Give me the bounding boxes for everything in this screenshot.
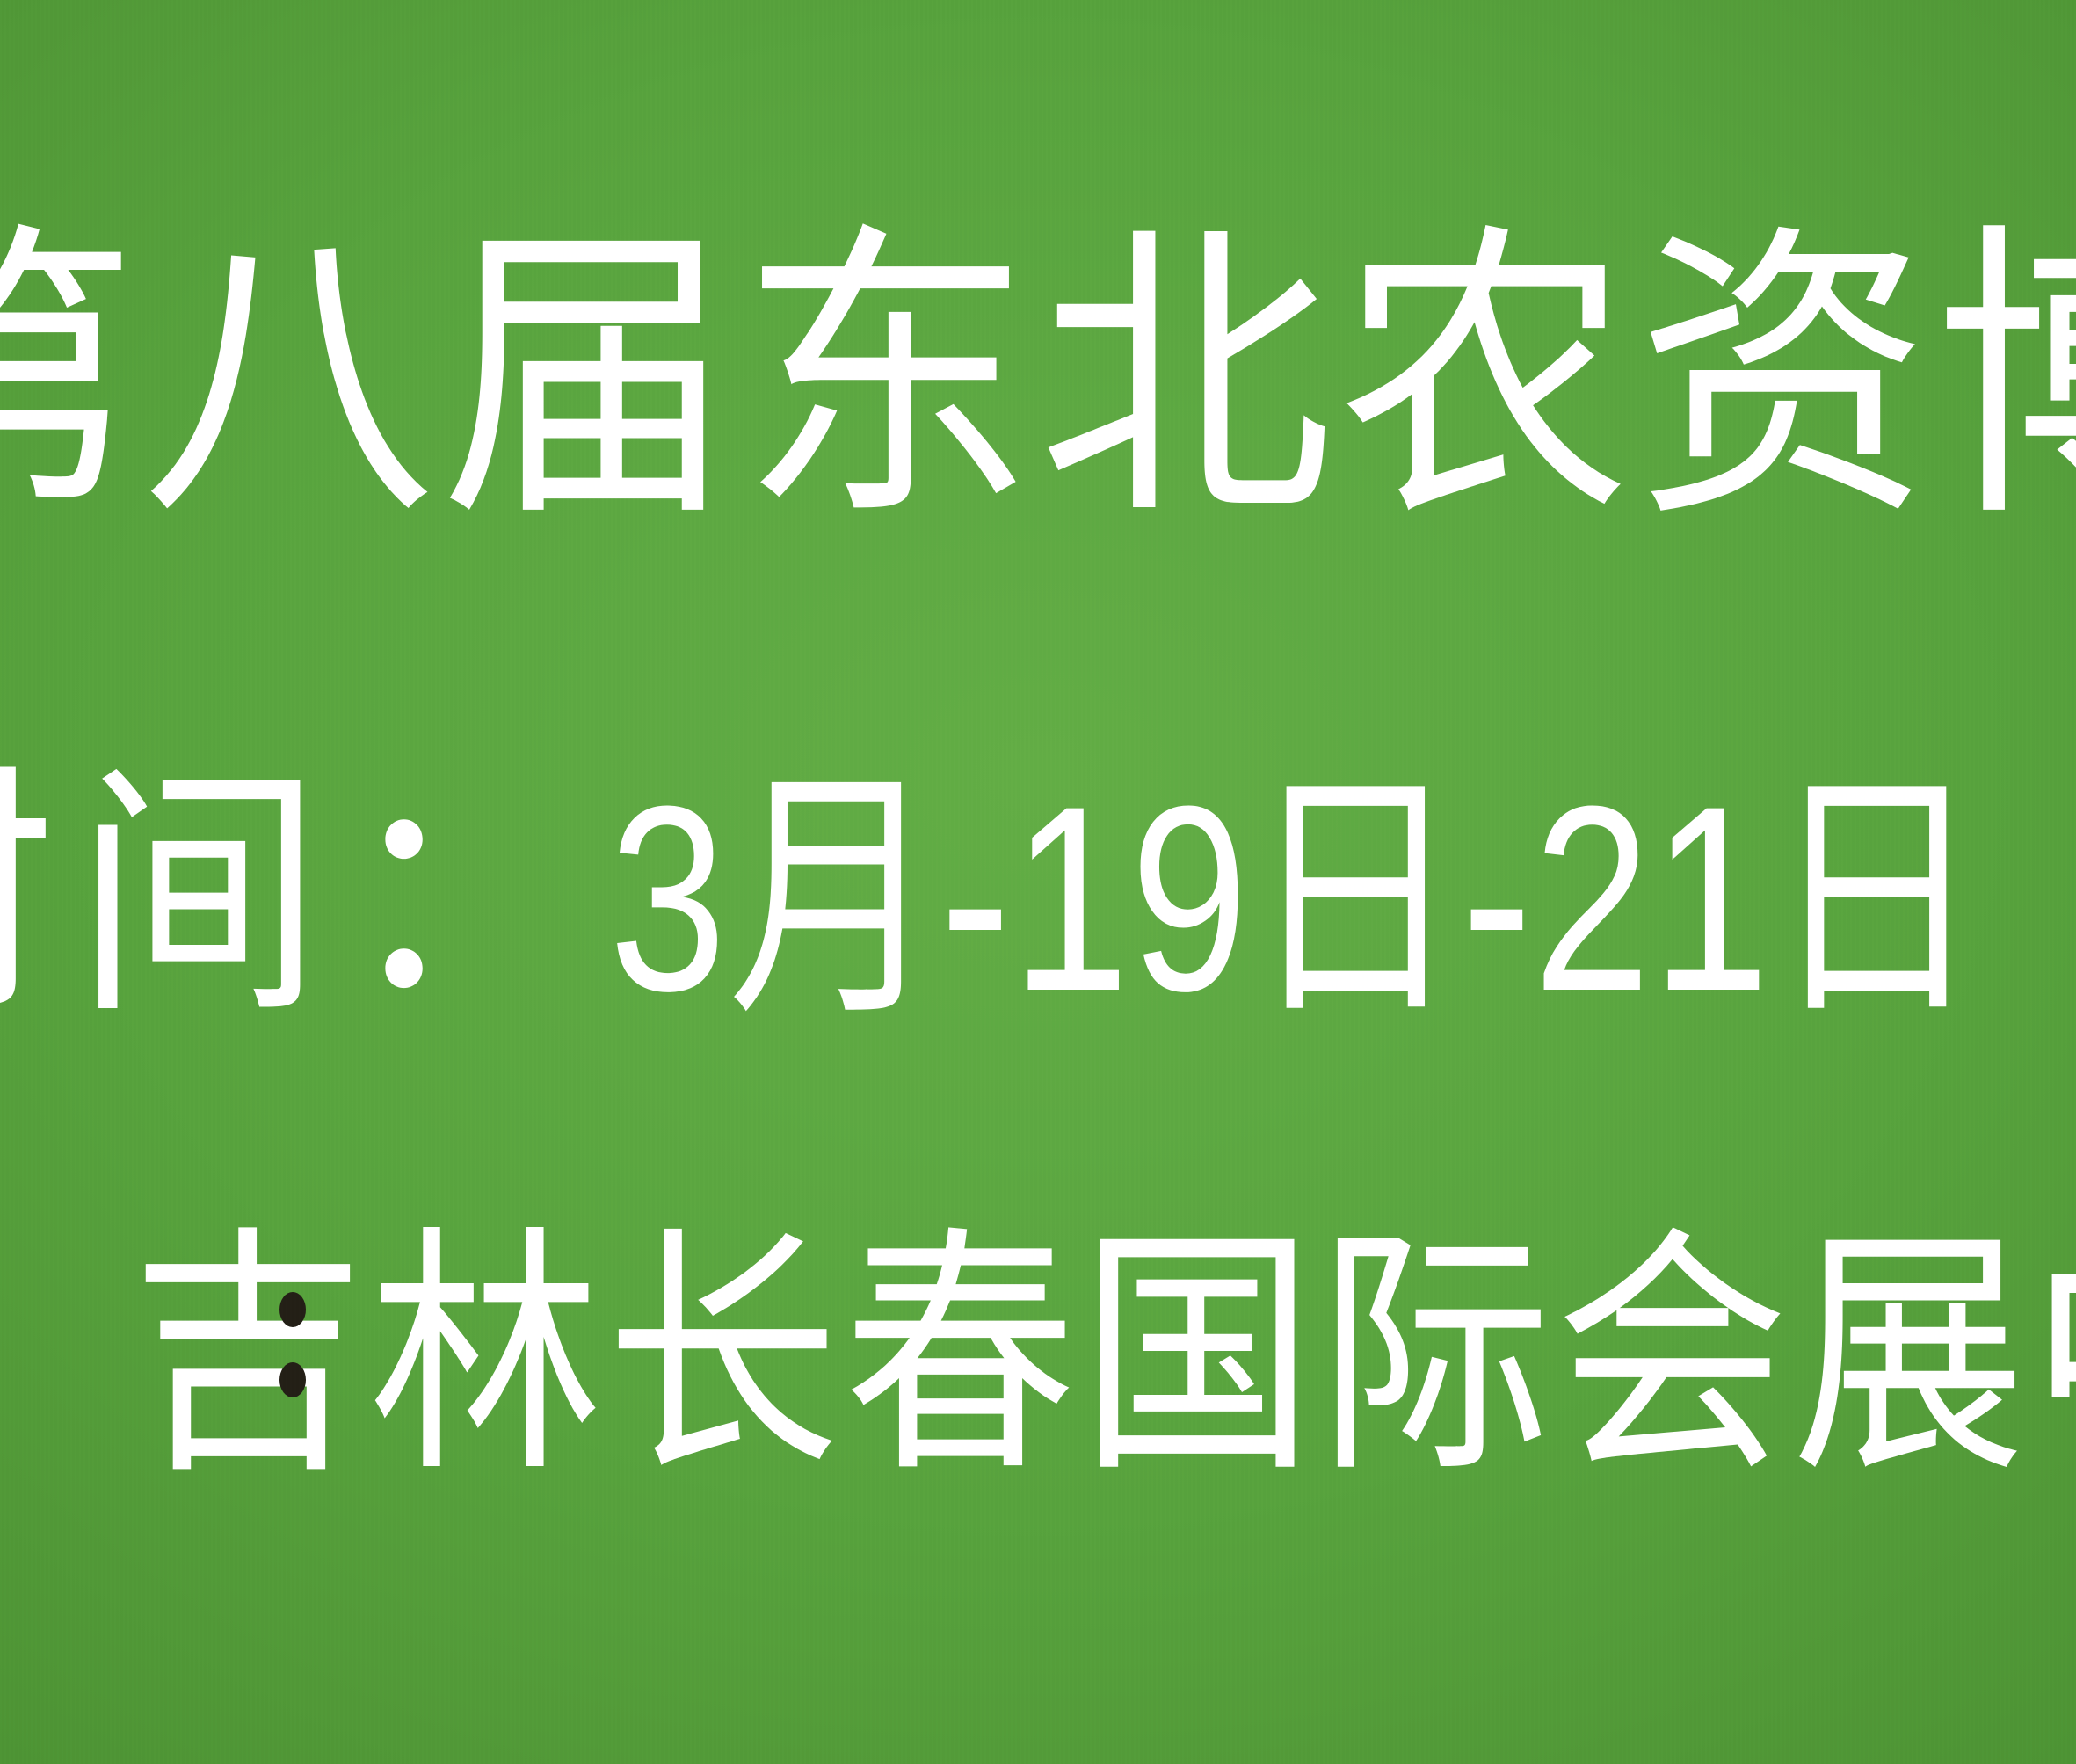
event-address-value: 吉林长春国际会展中心	[131, 1229, 2076, 1489]
event-date-label: 时间：	[0, 766, 609, 1030]
event-poster: 2019 第八届东北农资博览会 时间： 3月-19日-21日 地址： 吉林长春国…	[0, 0, 2076, 1764]
event-date-value: 3月-19日-21日	[609, 766, 1983, 1030]
event-date-colon: ：	[343, 752, 609, 1044]
event-address-line: 地址： 吉林长春国际会展中心	[0, 1229, 2076, 1519]
event-date-line: 时间： 3月-19日-21日	[0, 766, 2076, 1056]
event-title-name: 第八届东北农资博览会	[0, 227, 2076, 536]
event-address-colon: ：	[0, 1215, 131, 1503]
event-title: 2019 第八届东北农资博览会	[0, 227, 2076, 578]
event-address-label: 地址：	[0, 1229, 131, 1489]
event-date-label-text: 时间	[0, 752, 343, 1044]
